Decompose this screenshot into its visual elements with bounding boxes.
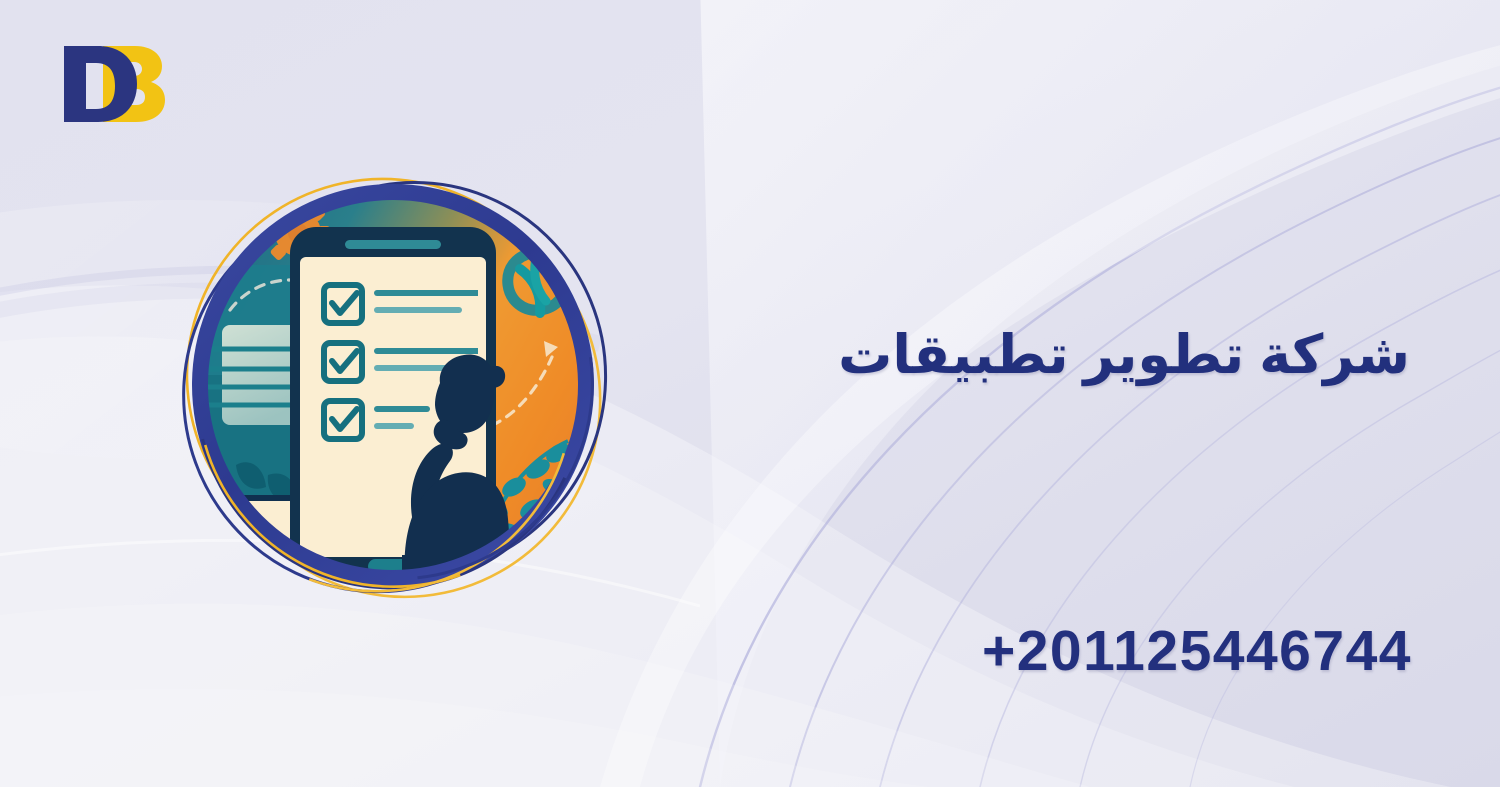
phone-speaker-bar xyxy=(345,240,441,249)
logo-letter-d xyxy=(64,46,137,122)
db-logo[interactable] xyxy=(60,42,172,132)
app-development-illustration xyxy=(140,135,660,645)
promotional-banner: شركة تطوير تطبيقات +201125446744 xyxy=(0,0,1500,787)
page-title: شركة تطوير تطبيقات xyxy=(790,324,1410,386)
contact-phone-number[interactable]: +201125446744 xyxy=(792,618,1412,684)
